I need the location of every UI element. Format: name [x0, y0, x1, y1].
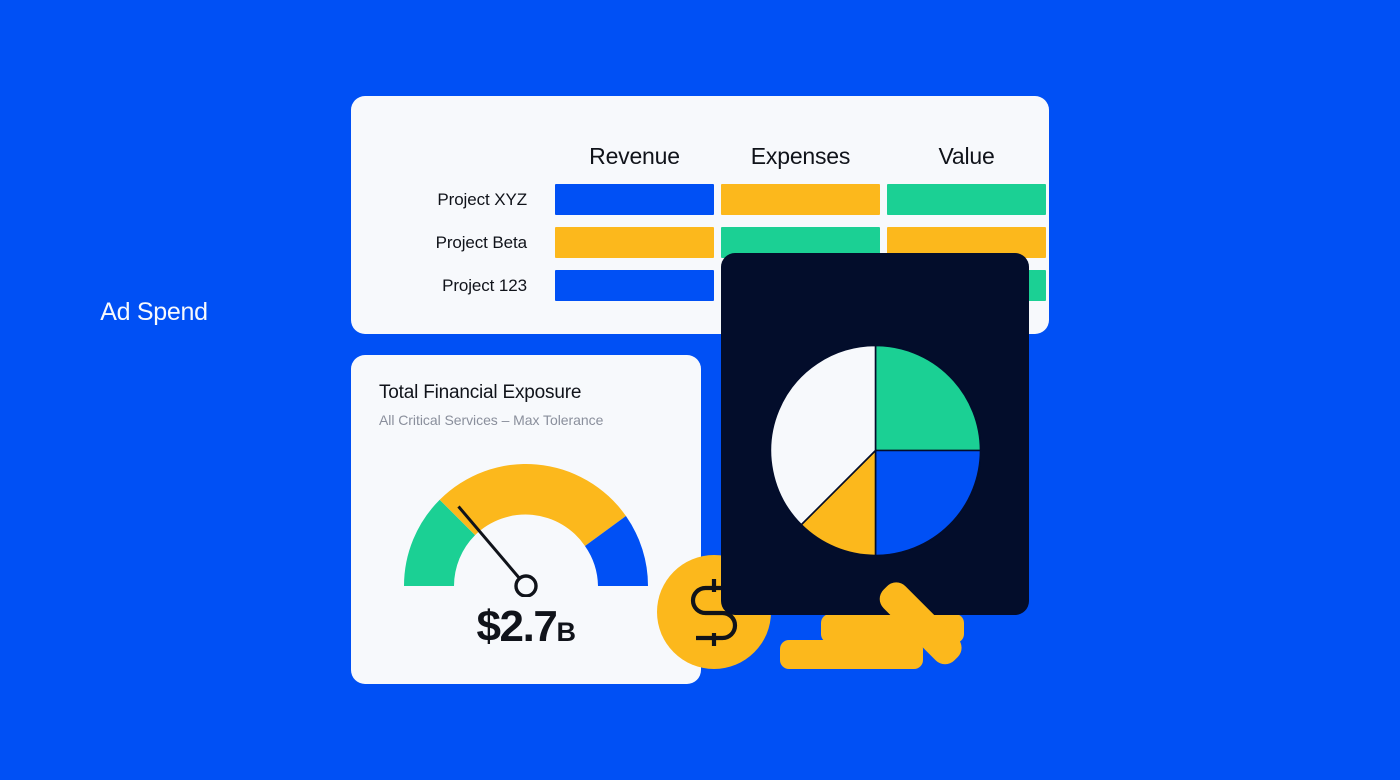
- row-label-project-123: Project 123: [395, 276, 555, 296]
- gauge-svg: [395, 455, 657, 597]
- bar-cell-revenue: [555, 227, 714, 258]
- gauge-needle-hub: [516, 576, 536, 596]
- bar-cell-revenue: [555, 270, 714, 301]
- table-header-row: Revenue Expenses Value: [395, 124, 1003, 168]
- bar-revenue-beta: [555, 227, 714, 258]
- table-row: Project XYZ: [395, 178, 1003, 221]
- ad-spend-pie-chart: [770, 345, 981, 556]
- bar-cell-revenue: [555, 184, 714, 215]
- bar-cell-expenses: [721, 184, 880, 215]
- illustration-stage: Revenue Expenses Value Project XYZ Proje…: [0, 0, 1400, 780]
- diagonal-bar-icon: [878, 580, 964, 666]
- column-header-value: Value: [887, 145, 1046, 168]
- ad-spend-card: [721, 253, 1029, 615]
- gauge-value-unit: B: [557, 617, 576, 647]
- gauge-value-number: $2.7: [476, 602, 556, 651]
- row-label-project-beta: Project Beta: [395, 233, 555, 253]
- pie-svg: [770, 345, 981, 556]
- column-header-revenue: Revenue: [555, 145, 714, 168]
- gauge-card-subtitle: All Critical Services – Max Tolerance: [379, 412, 701, 428]
- pie-slice-blue: [876, 451, 981, 556]
- gauge-card-title: Total Financial Exposure: [379, 382, 701, 405]
- bar-cell-value: [887, 184, 1046, 215]
- bar-revenue-123: [555, 270, 714, 301]
- ad-spend-title: Ad Spend: [0, 300, 308, 325]
- gauge-chart: [351, 455, 701, 615]
- total-financial-exposure-card: Total Financial Exposure All Critical Se…: [351, 355, 701, 684]
- stick-bar: [878, 580, 964, 666]
- pie-slice-green: [876, 346, 981, 451]
- row-label-project-xyz: Project XYZ: [395, 190, 555, 210]
- gauge-value: $2.7B: [351, 605, 701, 649]
- bar-value-xyz: [887, 184, 1046, 215]
- bar-revenue-xyz: [555, 184, 714, 215]
- bar-expenses-xyz: [721, 184, 880, 215]
- column-header-expenses: Expenses: [721, 145, 880, 168]
